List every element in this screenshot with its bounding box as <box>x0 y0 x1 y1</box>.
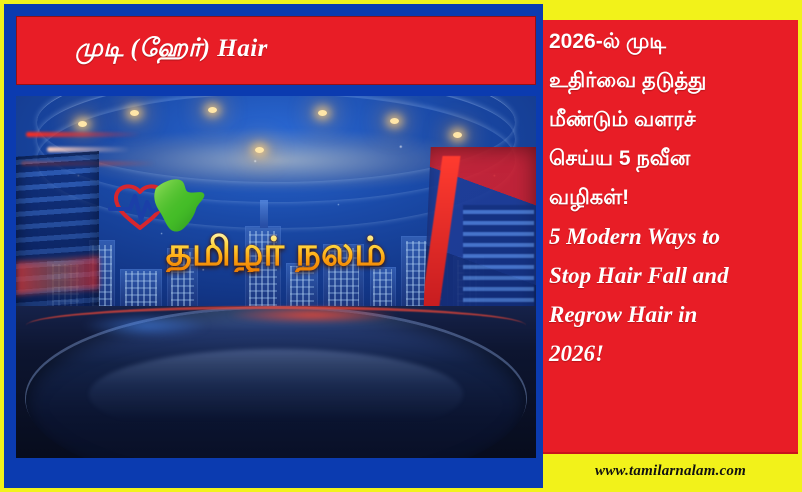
logo-mark <box>108 176 226 236</box>
headline-line: Stop Hair Fall and <box>549 256 794 295</box>
stage-floor <box>16 306 536 458</box>
headline-line: 2026-ல் முடி <box>549 22 794 61</box>
footer-bar: www.tamilarnalam.com <box>543 452 798 488</box>
headline-line: வழிகள்! <box>549 178 794 217</box>
headline-line: 5 Modern Ways to <box>549 217 794 256</box>
left-panel: முடி (ஹேர்) Hair <box>4 4 541 488</box>
headline-line: உதிர்வை தடுத்து <box>549 61 794 100</box>
title-text: முடி (ஹேர்) Hair <box>75 35 268 66</box>
headline-line: செய்ய 5 நவீன <box>549 139 794 178</box>
logo-wordmark: தமிழர் நலம் <box>166 232 387 272</box>
heart-ecg-map-icon <box>108 176 226 236</box>
right-panel: 2026-ல் முடி உதிர்வை தடுத்து மீண்டும் வள… <box>541 4 798 488</box>
headline-line: Regrow Hair in <box>549 295 794 334</box>
website-url[interactable]: www.tamilarnalam.com <box>595 463 746 480</box>
floor-glow-blue <box>58 309 235 342</box>
top-accent-bar <box>543 4 798 20</box>
headline-block: 2026-ல் முடி உதிர்வை தடுத்து மீண்டும் வள… <box>543 20 798 452</box>
title-box: முடி (ஹேர்) Hair <box>16 16 536 85</box>
headline-line: 2026! <box>549 334 794 373</box>
poster-root: முடி (ஹேர்) Hair <box>0 0 802 492</box>
floor-reflection <box>89 349 463 440</box>
light-streak <box>26 132 140 137</box>
headline-line: மீண்டும் வளரச் <box>549 100 794 139</box>
studio-image: தமிழர் நலம் <box>16 96 536 458</box>
map-shading <box>155 179 205 231</box>
panel-spacer <box>16 85 536 96</box>
